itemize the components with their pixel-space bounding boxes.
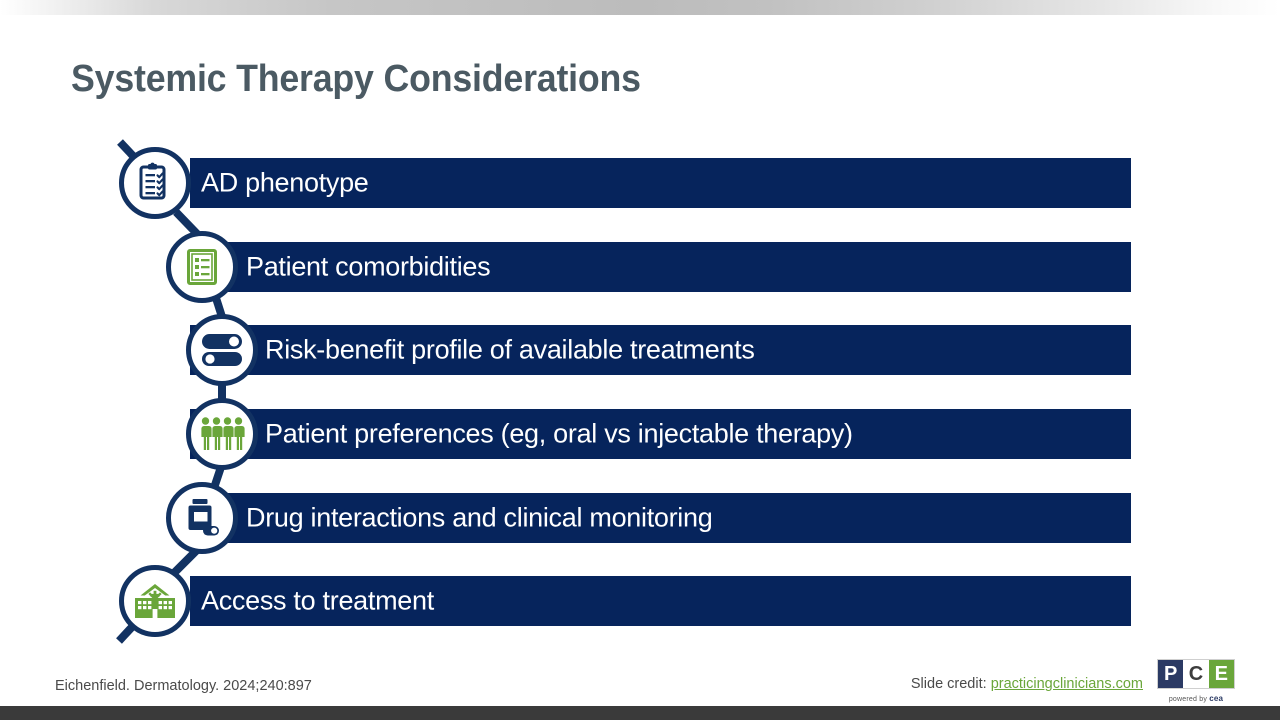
slide-credit-link[interactable]: practicingclinicians.com [991, 676, 1143, 692]
document-checklist-icon [182, 247, 222, 287]
consideration-label: AD phenotype [201, 168, 369, 199]
pce-logo-letter-e: E [1209, 660, 1234, 688]
consideration-icon-circle[interactable] [166, 482, 238, 554]
consideration-label: Drug interactions and clinical monitorin… [246, 503, 712, 534]
consideration-label: Patient preferences (eg, oral vs injecta… [265, 419, 853, 450]
toggle-switches-icon [200, 332, 244, 368]
consideration-icon-circle[interactable] [119, 147, 191, 219]
slide-credit: Slide credit: practicingclinicians.com [911, 676, 1143, 692]
pce-powered-by-prefix: powered by [1169, 696, 1209, 703]
footer-rule [0, 706, 1280, 720]
considerations-diagram: AD phenotype Patie [0, 0, 1280, 720]
pce-logo-letter-p: P [1158, 660, 1183, 688]
pce-logo: P C E powered by cea [1157, 659, 1235, 705]
pill-bottle-capsule-icon [181, 497, 223, 539]
citation: Eichenfield. Dermatology. 2024;240:897 [55, 678, 312, 694]
pce-logo-letter-c: C [1183, 660, 1208, 688]
pce-logo-tiles: P C E [1157, 659, 1235, 689]
pce-powered-by-brand: cea [1209, 694, 1223, 703]
consideration-icon-circle[interactable] [186, 314, 258, 386]
group-of-people-icon [199, 416, 245, 452]
consideration-icon-circle[interactable] [166, 231, 238, 303]
consideration-label: Risk-benefit profile of available treatm… [265, 335, 755, 366]
hospital-building-icon [133, 583, 177, 619]
consideration-icon-circle[interactable] [119, 565, 191, 637]
consideration-label: Patient comorbidities [246, 252, 490, 283]
pce-powered-by: powered by cea [1157, 694, 1235, 703]
consideration-icon-circle[interactable] [186, 398, 258, 470]
clipboard-checklist-icon [134, 162, 176, 204]
slide-credit-prefix: Slide credit: [911, 676, 991, 692]
consideration-label: Access to treatment [201, 586, 434, 617]
